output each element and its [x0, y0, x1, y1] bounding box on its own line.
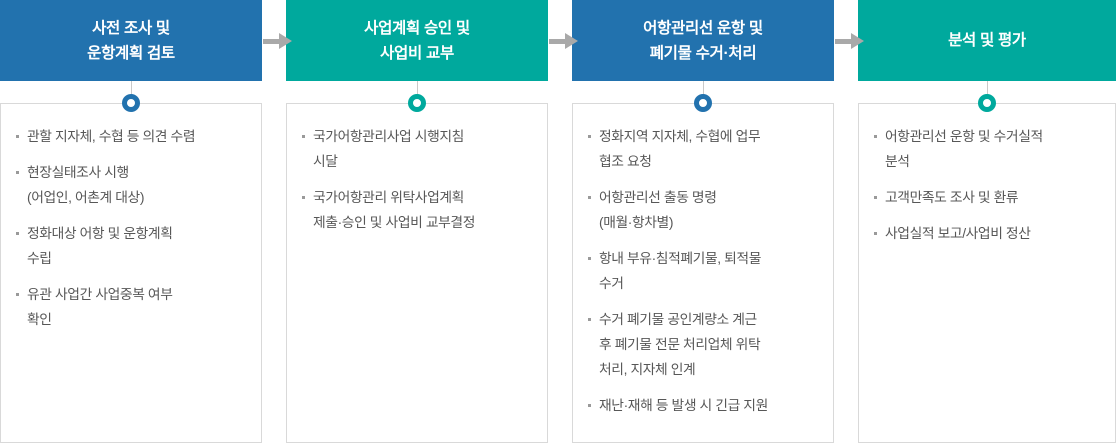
list-item: 정화지역 지자체, 수협에 업무협조 요청 [587, 124, 819, 174]
process-step-3: 어항관리선 운항 및 폐기물 수거·처리 정화지역 지자체, 수협에 업무협조 … [572, 0, 834, 445]
step-3-title-line-2: 폐기물 수거·처리 [650, 41, 757, 66]
step-2-header: 사업계획 승인 및 사업비 교부 [286, 0, 548, 81]
step-2-body: 국가어항관리사업 시행지침시달 국가어항관리 위탁사업계획제출·승인 및 사업비… [286, 103, 548, 443]
step-2-connector-ring-icon [408, 94, 426, 112]
step-3-header: 어항관리선 운항 및 폐기물 수거·처리 [572, 0, 834, 81]
step-2-title-line-2: 사업비 교부 [380, 41, 454, 66]
step-1-header: 사전 조사 및 운항계획 검토 [0, 0, 262, 81]
step-1-title-line-1: 사전 조사 및 [92, 16, 170, 41]
list-item: 현장실태조사 시행(어업인, 어촌계 대상) [15, 160, 247, 210]
list-item: 재난·재해 등 발생 시 긴급 지원 [587, 393, 819, 418]
step-2-title-line-1: 사업계획 승인 및 [364, 16, 470, 41]
arrow-right-icon [548, 33, 580, 49]
process-step-4: 분석 및 평가 어항관리선 운항 및 수거실적분석 고객만족도 조사 및 환류 … [858, 0, 1116, 445]
step-3-connector-ring-icon [694, 94, 712, 112]
step-2-item-list: 국가어항관리사업 시행지침시달 국가어항관리 위탁사업계획제출·승인 및 사업비… [301, 124, 533, 235]
step-1-connector-ring-icon [122, 94, 140, 112]
step-1-body: 관할 지자체, 수협 등 의견 수렴 현장실태조사 시행(어업인, 어촌계 대상… [0, 103, 262, 443]
list-item: 사업실적 보고/사업비 정산 [873, 221, 1101, 246]
step-4-header: 분석 및 평가 [858, 0, 1116, 81]
step-1-title-line-2: 운항계획 검토 [87, 41, 175, 66]
list-item: 어항관리선 출동 명령(매월·항차별) [587, 185, 819, 235]
list-item: 정화대상 어항 및 운항계획수립 [15, 221, 247, 271]
process-step-2: 사업계획 승인 및 사업비 교부 국가어항관리사업 시행지침시달 국가어항관리 … [286, 0, 548, 445]
arrow-right-icon [262, 33, 294, 49]
list-item: 어항관리선 운항 및 수거실적분석 [873, 124, 1101, 174]
list-item: 관할 지자체, 수협 등 의견 수렴 [15, 124, 247, 149]
step-4-body: 어항관리선 운항 및 수거실적분석 고객만족도 조사 및 환류 사업실적 보고/… [858, 103, 1116, 443]
list-item: 유관 사업간 사업중복 여부확인 [15, 282, 247, 332]
step-4-item-list: 어항관리선 운항 및 수거실적분석 고객만족도 조사 및 환류 사업실적 보고/… [873, 124, 1101, 246]
list-item: 국가어항관리 위탁사업계획제출·승인 및 사업비 교부결정 [301, 185, 533, 235]
list-item: 항내 부유·침적폐기물, 퇴적물수거 [587, 246, 819, 296]
list-item: 고객만족도 조사 및 환류 [873, 185, 1101, 210]
step-4-title-line-1: 분석 및 평가 [948, 28, 1026, 53]
list-item: 수거 폐기물 공인계량소 계근후 폐기물 전문 처리업체 위탁처리, 지자체 인… [587, 307, 819, 382]
arrow-head [851, 33, 864, 49]
process-flow-diagram: 사전 조사 및 운항계획 검토 관할 지자체, 수협 등 의견 수렴 현장실태조… [0, 0, 1120, 445]
step-4-connector-ring-icon [978, 94, 996, 112]
list-item: 국가어항관리사업 시행지침시달 [301, 124, 533, 174]
arrow-head [279, 33, 292, 49]
arrow-head [565, 33, 578, 49]
step-3-title-line-1: 어항관리선 운항 및 [643, 16, 763, 41]
step-1-item-list: 관할 지자체, 수협 등 의견 수렴 현장실태조사 시행(어업인, 어촌계 대상… [15, 124, 247, 332]
arrow-right-icon [834, 33, 866, 49]
process-step-1: 사전 조사 및 운항계획 검토 관할 지자체, 수협 등 의견 수렴 현장실태조… [0, 0, 262, 445]
step-3-body: 정화지역 지자체, 수협에 업무협조 요청 어항관리선 출동 명령(매월·항차별… [572, 103, 834, 443]
step-3-item-list: 정화지역 지자체, 수협에 업무협조 요청 어항관리선 출동 명령(매월·항차별… [587, 124, 819, 418]
